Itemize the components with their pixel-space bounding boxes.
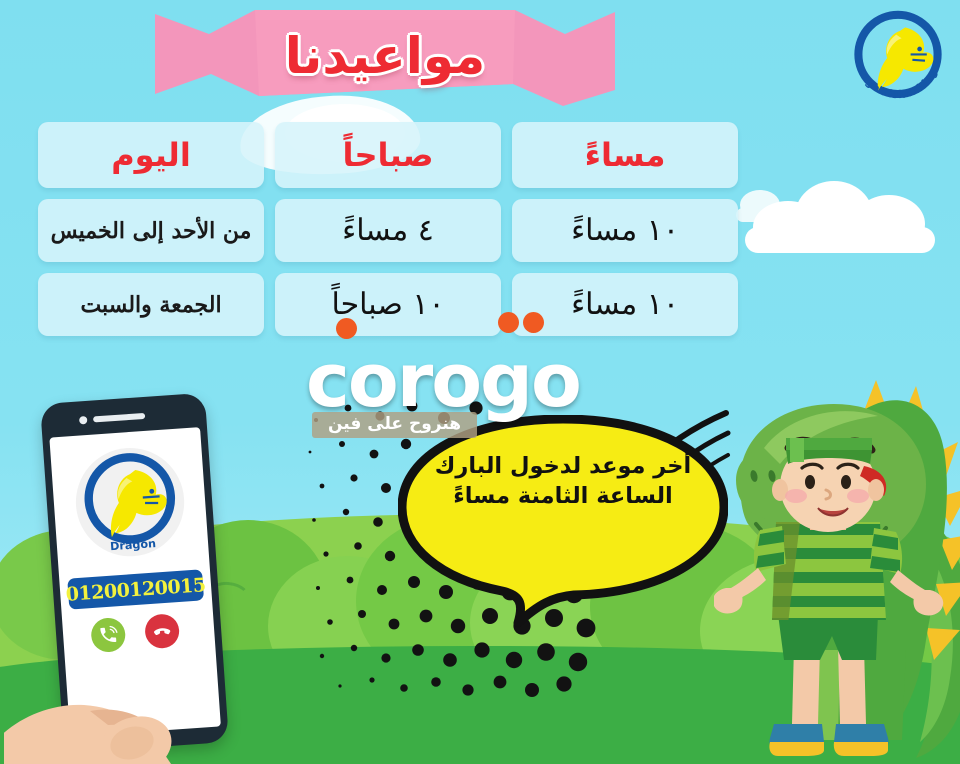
- watermark-tagline: هنروح على فين: [312, 412, 477, 438]
- cell-day: من الأحد إلى الخميس: [38, 199, 264, 262]
- header-cell-evening: مساءً: [512, 122, 738, 188]
- header-banner: مواعيدنا: [155, 8, 615, 113]
- header-cell-day: اليوم: [38, 122, 264, 188]
- boy-character: [714, 438, 944, 764]
- cell-evening: ١٠ مساءً: [512, 199, 738, 262]
- speech-bubble-shape: [398, 415, 728, 630]
- phone-mockup: Dragon 01200120015: [52, 398, 242, 764]
- cell-day-value: من الأحد إلى الخميس: [51, 218, 252, 244]
- page-title: مواعيدنا: [155, 8, 615, 113]
- watermark-dot: [523, 312, 544, 333]
- watermark-dot: [336, 318, 357, 339]
- poster-canvas: أخر موعد لدخول البارك الساعة الثامنة مسا…: [0, 0, 960, 764]
- table-row: ١٠ مساءً ٤ مساءً من الأحد إلى الخميس: [38, 199, 738, 262]
- phone-speaker: [93, 413, 145, 423]
- cell-morning: ٤ مساءً: [275, 199, 501, 262]
- cell-morning-value: ٤ مساءً: [342, 213, 434, 248]
- notice-line-1: أخر موعد لدخول البارك: [422, 451, 704, 481]
- table-row: ١٠ مساءً ١٠ صباحاً الجمعة والسبت: [38, 273, 738, 336]
- dragon-island-logo-corner: dragon-island-logo: [844, 4, 952, 112]
- dragon-island-logo: Dragon: [70, 442, 190, 562]
- header-cell-morning: صباحاً: [275, 122, 501, 188]
- speech-bubble: أخر موعد لدخول البارك الساعة الثامنة مسا…: [398, 415, 728, 630]
- cell-day-value: الجمعة والسبت: [80, 292, 221, 318]
- cell-evening-value: ١٠ مساءً: [571, 213, 679, 248]
- watermark-dot: [498, 312, 519, 333]
- cell-day: الجمعة والسبت: [38, 273, 264, 336]
- schedule-table: مساءً صباحاً اليوم ١٠ مساءً ٤ مساءً من ا…: [38, 122, 738, 336]
- phone-camera-icon: [79, 416, 88, 425]
- cell-morning: ١٠ صباحاً: [275, 273, 501, 336]
- table-header-row: مساءً صباحاً اليوم: [38, 122, 738, 188]
- header-evening-label: مساءً: [585, 136, 666, 174]
- cell-evening: ١٠ مساءً: [512, 273, 738, 336]
- hand-holding-phone: [4, 593, 304, 764]
- header-day-label: اليوم: [111, 136, 191, 174]
- header-morning-label: صباحاً: [342, 136, 433, 174]
- notice-line-2: الساعة الثامنة مساءً: [422, 481, 704, 511]
- cell-morning-value: ١٠ صباحاً: [331, 287, 444, 322]
- notice-text: أخر موعد لدخول البارك الساعة الثامنة مسا…: [422, 451, 704, 512]
- cell-evening-value: ١٠ مساءً: [571, 287, 679, 322]
